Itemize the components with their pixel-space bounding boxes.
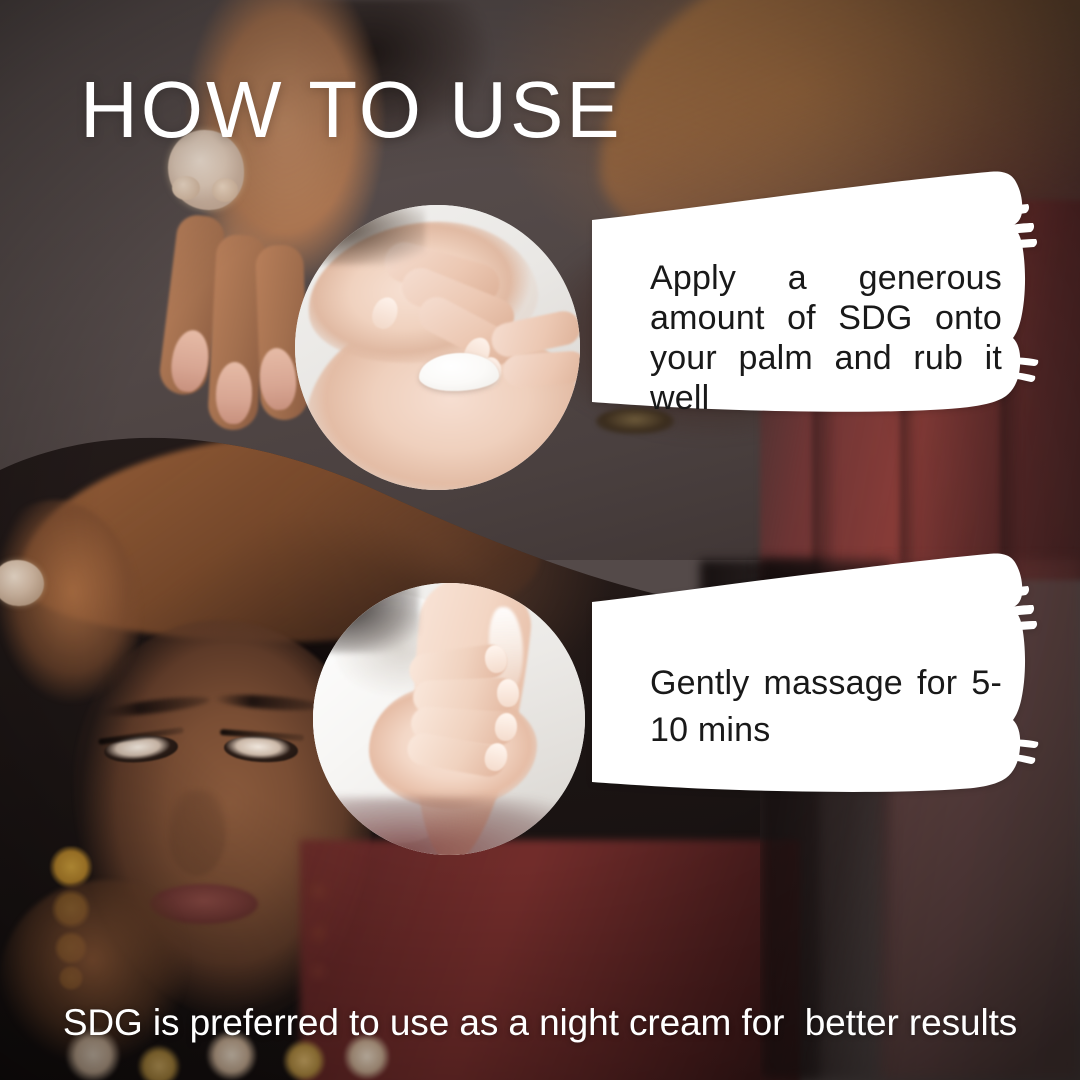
step-1-callout: Apply a generous amount of SDG onto your… xyxy=(592,168,1054,418)
step-2-image-dark-corner xyxy=(313,583,419,653)
background-composite xyxy=(0,0,1080,1080)
step-1-image xyxy=(295,205,580,490)
portrait-nose xyxy=(168,790,226,876)
step-2-image xyxy=(313,583,585,855)
step-1-text: Apply a generous amount of SDG onto your… xyxy=(650,258,1002,418)
step-2-text: Gently massage for 5-10 mins xyxy=(650,660,1002,754)
step-1-cream-dollop xyxy=(419,353,499,391)
step-2-image-red-corner xyxy=(313,797,585,855)
step-2-nail-2 xyxy=(497,679,520,708)
page-title: HOW TO USE xyxy=(80,68,623,153)
step-1-palm-finger-2 xyxy=(502,350,580,388)
step-2-callout: Gently massage for 5-10 mins xyxy=(592,548,1054,798)
step-1-image-dark-corner xyxy=(295,205,425,265)
how-to-use-poster: HOW TO USE Apply a generous amount of SD… xyxy=(0,0,1080,1080)
footer-caption: SDG is preferred to use as a night cream… xyxy=(0,1002,1080,1044)
